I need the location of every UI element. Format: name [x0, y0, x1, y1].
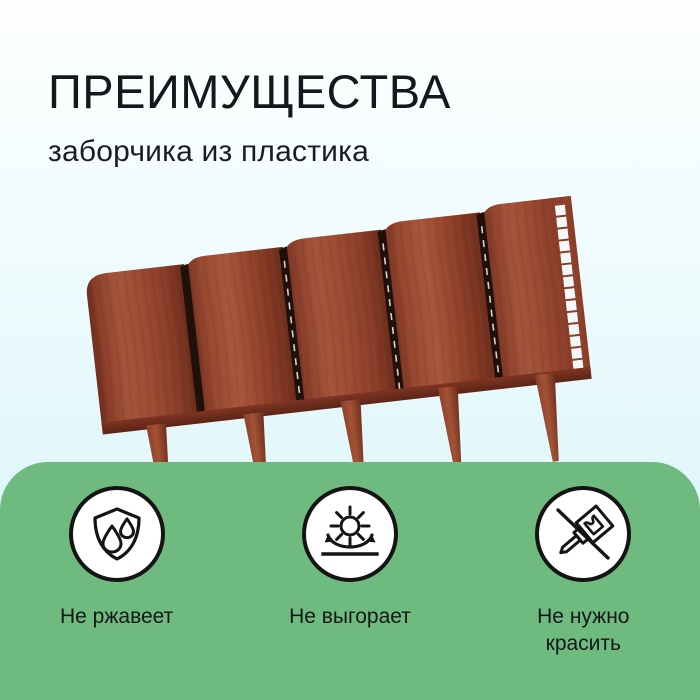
- feature-label-2: Не выгорает: [289, 603, 411, 630]
- no-paint-brush-icon: [549, 500, 617, 568]
- feature-badge-2: [302, 486, 398, 582]
- features-panel: Не ржавеет: [0, 462, 700, 700]
- fence-board: [82, 196, 603, 480]
- sun-uv-reflect-icon: [319, 503, 381, 565]
- feature-label-1: Не ржавеет: [60, 603, 173, 630]
- feature-badge-3: [535, 486, 631, 582]
- stake-5: [535, 373, 565, 463]
- fence-illustration: [0, 150, 700, 480]
- product-image: [0, 150, 700, 480]
- feature-no-paint: Не нужно красить: [483, 486, 683, 657]
- feature-badge-1: [69, 486, 165, 582]
- features-row: Не ржавеет: [0, 462, 700, 700]
- feature-no-rust: Не ржавеет: [17, 486, 217, 630]
- feature-no-fade: Не выгорает: [250, 486, 450, 630]
- page-title: ПРЕИМУЩЕСТВА: [48, 66, 608, 118]
- shield-water-drop-icon: [87, 504, 147, 564]
- promo-banner: ПРЕИМУЩЕСТВА заборчика из пластика: [0, 0, 700, 700]
- feature-label-3: Не нужно красить: [508, 603, 658, 657]
